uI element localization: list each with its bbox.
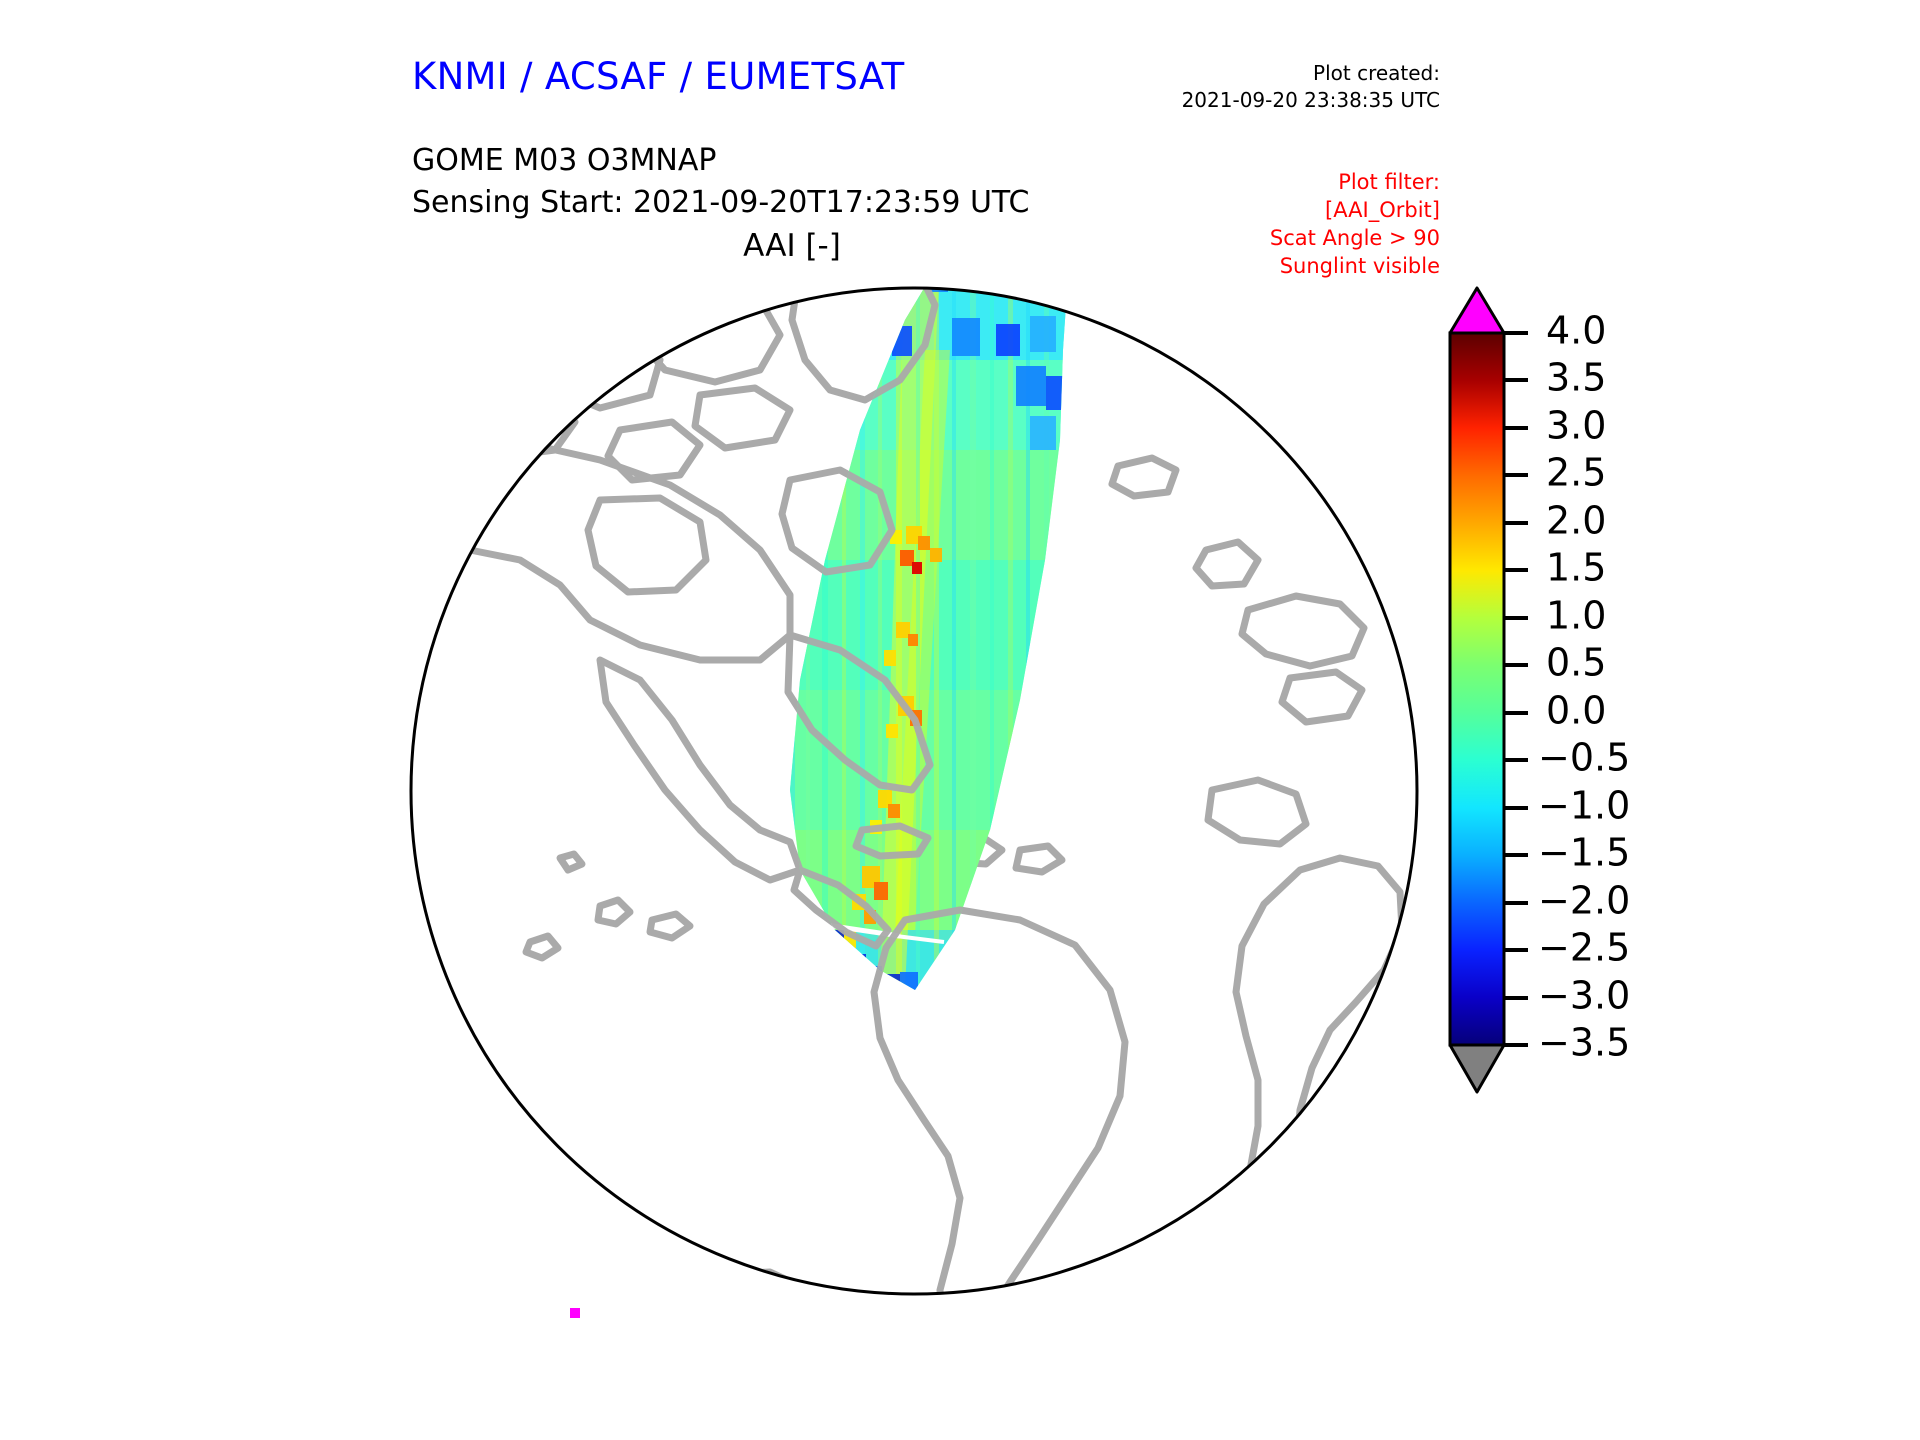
- plot-created-block: Plot created: 2021-09-20 23:38:35 UTC: [1080, 60, 1440, 114]
- filter-product: [AAI_Orbit]: [1080, 196, 1440, 224]
- colorbar-ticks: [1504, 333, 1528, 1045]
- organisation-title: KNMI / ACSAF / EUMETSAT: [412, 55, 905, 98]
- plot-created-value: 2021-09-20 23:38:35 UTC: [1080, 87, 1440, 114]
- plot-created-label: Plot created:: [1080, 60, 1440, 87]
- colorbar: 4.0 3.5 3.0 2.5 2.0 1.5 1.0 0.5 0.0 −0.5…: [1430, 280, 1850, 1320]
- filter-label: Plot filter:: [1080, 168, 1440, 196]
- colorbar-over-range-arrow: [1450, 288, 1504, 333]
- colorbar-gradient: [1450, 333, 1504, 1045]
- colorbar-tick-labels: 4.0 3.5 3.0 2.5 2.0 1.5 1.0 0.5 0.0 −0.5…: [1538, 309, 1630, 1065]
- colorbar-tick-label: 3.5: [1546, 356, 1606, 400]
- map-panel: [0, 230, 1430, 1390]
- colorbar-tick-label: −2.0: [1538, 879, 1630, 923]
- sensing-start-line: Sensing Start: 2021-09-20T17:23:59 UTC: [412, 182, 1029, 224]
- colorbar-tick-label: −1.5: [1538, 831, 1630, 875]
- colorbar-panel: 4.0 3.5 3.0 2.5 2.0 1.5 1.0 0.5 0.0 −0.5…: [1430, 280, 1850, 1320]
- colorbar-tick-label: 4.0: [1546, 309, 1606, 353]
- colorbar-tick-label: 2.0: [1546, 499, 1606, 543]
- colorbar-tick-label: −1.0: [1538, 784, 1630, 828]
- sunglint-track-tail: [570, 1308, 580, 1318]
- colorbar-tick-label: 3.0: [1546, 404, 1606, 448]
- colorbar-tick-label: 0.5: [1546, 641, 1606, 685]
- colorbar-tick-label: −0.5: [1538, 736, 1630, 780]
- colorbar-tick-label: 1.0: [1546, 594, 1606, 638]
- orthographic-globe-map: [0, 230, 1430, 1390]
- instrument-line: GOME M03 O3MNAP: [412, 140, 1029, 182]
- colorbar-tick-label: −3.5: [1538, 1021, 1630, 1065]
- colorbar-tick-label: 1.5: [1546, 546, 1606, 590]
- colorbar-tick-label: 0.0: [1546, 689, 1606, 733]
- dataset-info: GOME M03 O3MNAP Sensing Start: 2021-09-2…: [412, 140, 1029, 224]
- colorbar-tick-label: 2.5: [1546, 451, 1606, 495]
- sunglint-track: [318, 1279, 556, 1311]
- colorbar-under-range-arrow: [1450, 1045, 1504, 1092]
- colorbar-tick-label: −3.0: [1538, 974, 1630, 1018]
- colorbar-tick-label: −2.5: [1538, 926, 1630, 970]
